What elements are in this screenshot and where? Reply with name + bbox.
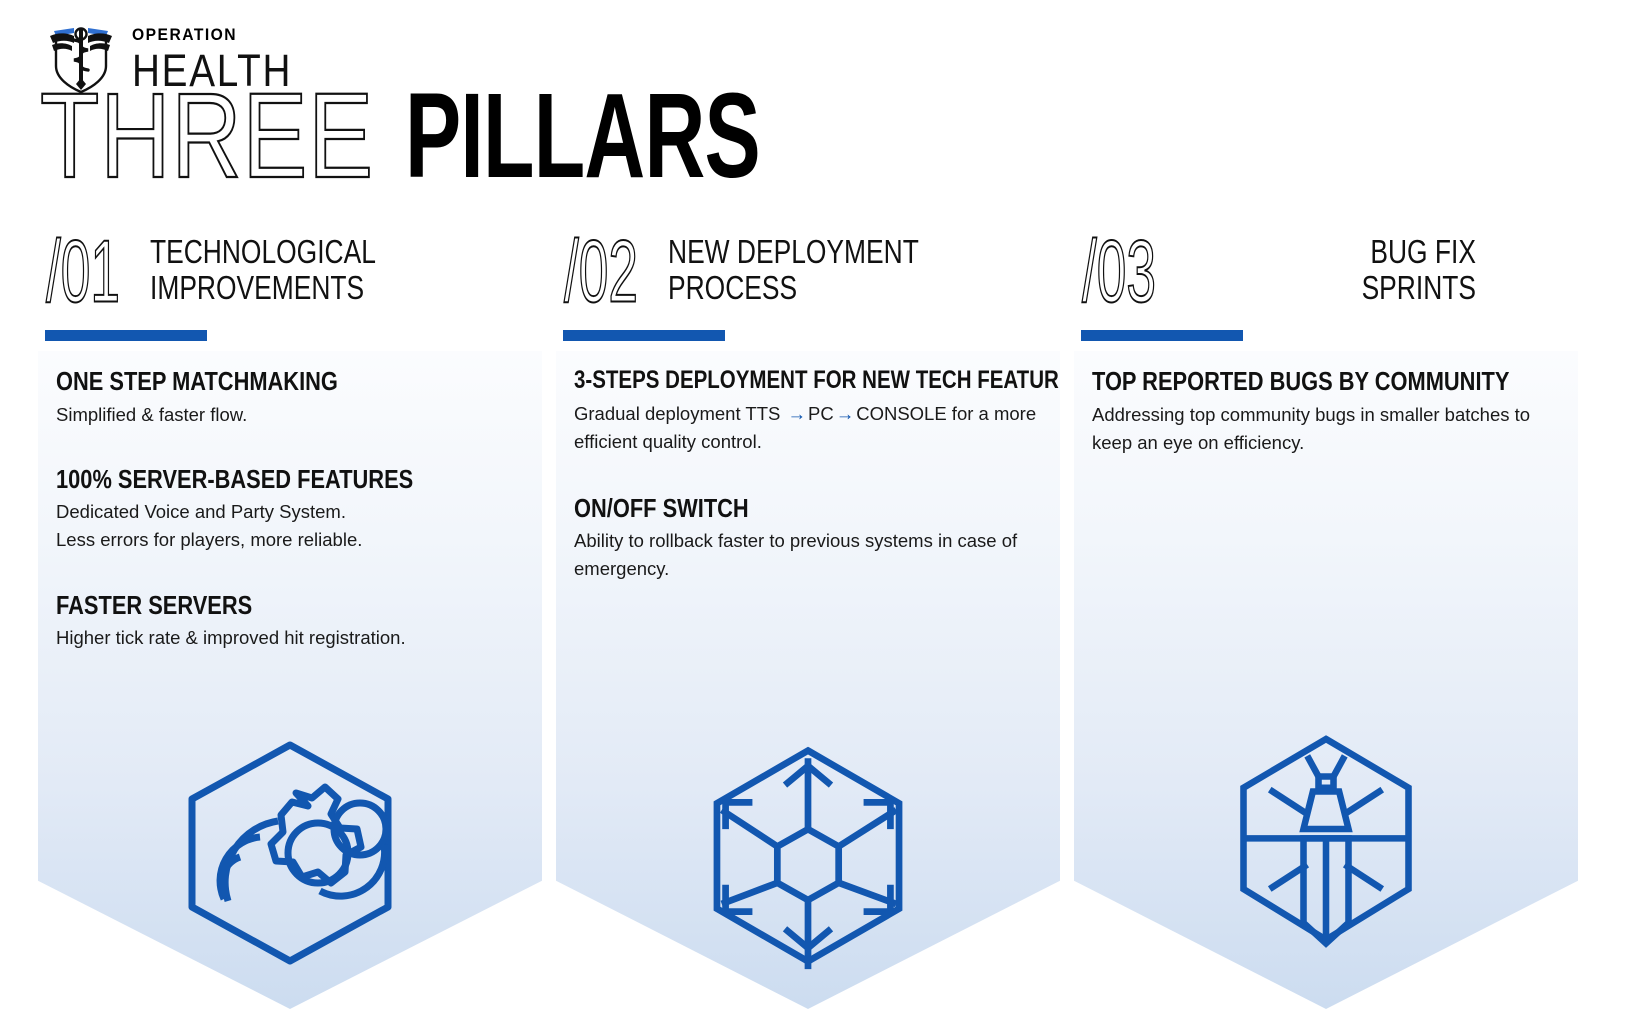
pillar-2-block-1: 3-STEPS DEPLOYMENT FOR NEW TECH FEATURES… [574, 367, 1044, 456]
pillar-1-title: TECHNOLOGICAL IMPROVEMENTS [150, 232, 464, 305]
pillar-1-accent-rule [45, 330, 207, 341]
pillar-2-title-line-2: PROCESS [668, 270, 982, 306]
infographic-page: OPERATION HEALTH THREE PILLARS /01 TECHN… [0, 0, 1634, 1023]
pillar-1-panel: ONE STEP MATCHMAKING Simplified & faster… [38, 351, 542, 1009]
pillar-2-title: NEW DEPLOYMENT PROCESS [668, 232, 982, 305]
pillar-2-block-1-heading: 3-STEPS DEPLOYMENT FOR NEW TECH FEATURES [574, 367, 959, 395]
pillar-column-2: /02 NEW DEPLOYMENT PROCESS 3-STEPS DEPLO… [556, 232, 1060, 1009]
pillar-1-block-2-heading: 100% SERVER-BASED FEATURES [56, 465, 451, 494]
pillar-1-block-3: FASTER SERVERS Higher tick rate & improv… [56, 591, 526, 653]
page-title-solid-word: PILLARS [405, 75, 760, 196]
gear-cog-hexagon-icon [170, 733, 410, 973]
pillar-1-block-1-heading: ONE STEP MATCHMAKING [56, 367, 451, 396]
pillar-1-block-2-body: Dedicated Voice and Party System. Less e… [56, 498, 526, 554]
pillar-2-number: /02 [564, 232, 628, 313]
pillar-3-accent-rule [1081, 330, 1243, 341]
arrow-icon-1: → [786, 403, 809, 424]
pillar-2-accent-rule [563, 330, 725, 341]
pillar-3-header: /03 BUG FIX SPRINTS [1074, 232, 1578, 324]
pillar-3-title: BUG FIX SPRINTS [1244, 232, 1476, 305]
pillar-2-title-line-1: NEW DEPLOYMENT [668, 234, 982, 270]
pillar-2-body-pre: Gradual deployment TTS [574, 403, 786, 424]
pillar-2-block-2: ON/OFF SWITCH Ability to rollback faster… [574, 494, 1044, 584]
pillar-1-block-2: 100% SERVER-BASED FEATURES Dedicated Voi… [56, 465, 526, 555]
pillar-3-panel: TOP REPORTED BUGS BY COMMUNITY Addressin… [1074, 351, 1578, 1009]
pillar-column-3: /03 BUG FIX SPRINTS TOP REPORTED BUGS BY… [1074, 232, 1578, 1009]
page-title-outline-word: THREE [40, 75, 374, 196]
arrow-icon-2: → [834, 403, 857, 424]
pillar-1-block-3-body: Higher tick rate & improved hit registra… [56, 624, 526, 652]
pillar-2-block-1-body: Gradual deployment TTS →PC→CONSOLE for a… [574, 400, 1044, 456]
pillar-1-block-1-body: Simplified & faster flow. [56, 401, 526, 429]
pillar-1-header: /01 TECHNOLOGICAL IMPROVEMENTS [38, 232, 542, 324]
pillar-1-block-1: ONE STEP MATCHMAKING Simplified & faster… [56, 367, 526, 429]
hexagon-arrows-deployment-icon [693, 741, 923, 971]
pillar-column-1: /01 TECHNOLOGICAL IMPROVEMENTS ONE STEP … [38, 232, 542, 1009]
pillar-3-block-1: TOP REPORTED BUGS BY COMMUNITY Addressin… [1092, 367, 1562, 457]
pillar-3-title-line-1: BUG FIX [1244, 234, 1476, 270]
pillar-2-header: /02 NEW DEPLOYMENT PROCESS [556, 232, 1060, 324]
pillars-columns: /01 TECHNOLOGICAL IMPROVEMENTS ONE STEP … [38, 232, 1598, 1009]
pillar-3-title-line-2: SPRINTS [1244, 270, 1476, 306]
pillar-1-block-3-heading: FASTER SERVERS [56, 591, 451, 620]
pillar-2-block-2-heading: ON/OFF SWITCH [574, 494, 969, 523]
page-title: THREE PILLARS [40, 88, 860, 196]
pillar-2-panel: 3-STEPS DEPLOYMENT FOR NEW TECH FEATURES… [556, 351, 1060, 1009]
pillar-3-block-1-heading: TOP REPORTED BUGS BY COMMUNITY [1092, 367, 1487, 396]
pillar-1-title-line-1: TECHNOLOGICAL [150, 234, 464, 270]
pillar-3-block-1-body: Addressing top community bugs in smaller… [1092, 401, 1562, 457]
beetle-bug-hexagon-icon [1214, 719, 1439, 969]
pillar-2-block-2-body: Ability to rollback faster to previous s… [574, 527, 1044, 583]
brand-operation-text: OPERATION [132, 26, 303, 43]
pillar-2-body-mid: PC [808, 403, 834, 424]
pillar-1-number: /01 [46, 232, 110, 313]
pillar-3-number: /03 [1082, 232, 1146, 313]
pillar-1-title-line-2: IMPROVEMENTS [150, 270, 464, 306]
